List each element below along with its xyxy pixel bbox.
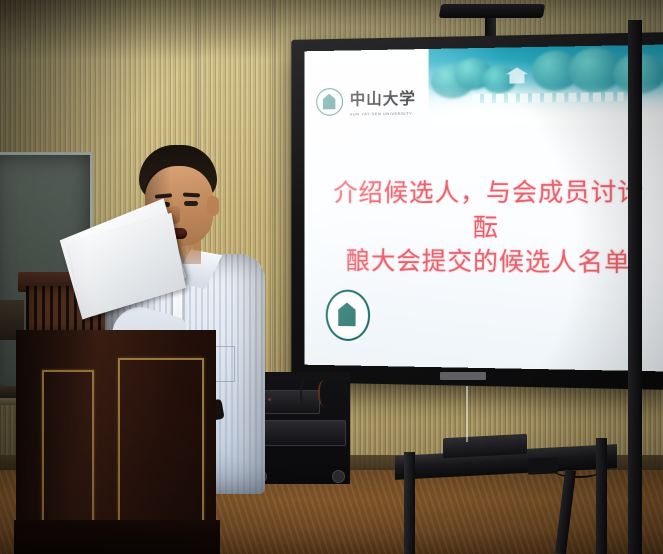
speaker-eyebrow bbox=[183, 193, 200, 198]
university-name-en: SUN YAT-SEN UNIVERSITY bbox=[350, 111, 416, 117]
slide-title: 介绍候选人，与会成员讨论酝 酿大会提交的候选人名单 bbox=[330, 175, 649, 281]
slide-title-line-2: 酿大会提交的候选人名单 bbox=[330, 244, 649, 281]
cable bbox=[318, 380, 334, 406]
podium-gold-panel bbox=[118, 358, 204, 544]
university-name-cn: 中山大学 bbox=[350, 85, 416, 110]
ceiling-camera-icon bbox=[439, 4, 545, 18]
stand-upright-post bbox=[628, 20, 642, 554]
slide-title-line-1: 介绍候选人，与会成员讨论酝 bbox=[330, 175, 649, 245]
podium-gold-panel bbox=[42, 370, 94, 539]
smart-display-screen[interactable]: 中山大学 SUN YAT-SEN UNIVERSITY 介绍候选人，与会成员讨论… bbox=[305, 45, 663, 372]
university-seal-large-icon bbox=[326, 289, 370, 341]
speaker-eye bbox=[184, 201, 198, 206]
photo-scene: 中山大学 SUN YAT-SEN UNIVERSITY 介绍候选人，与会成员讨论… bbox=[0, 0, 663, 554]
university-logo: 中山大学 SUN YAT-SEN UNIVERSITY bbox=[316, 85, 416, 117]
display-brand-logo bbox=[440, 372, 486, 380]
university-seal-icon bbox=[316, 87, 343, 115]
speaker-ear bbox=[207, 196, 219, 216]
cable bbox=[300, 378, 318, 408]
podium-base bbox=[14, 520, 220, 554]
hanging-cable bbox=[466, 386, 468, 442]
stand-leg bbox=[404, 452, 415, 554]
stand-leg bbox=[596, 438, 607, 554]
